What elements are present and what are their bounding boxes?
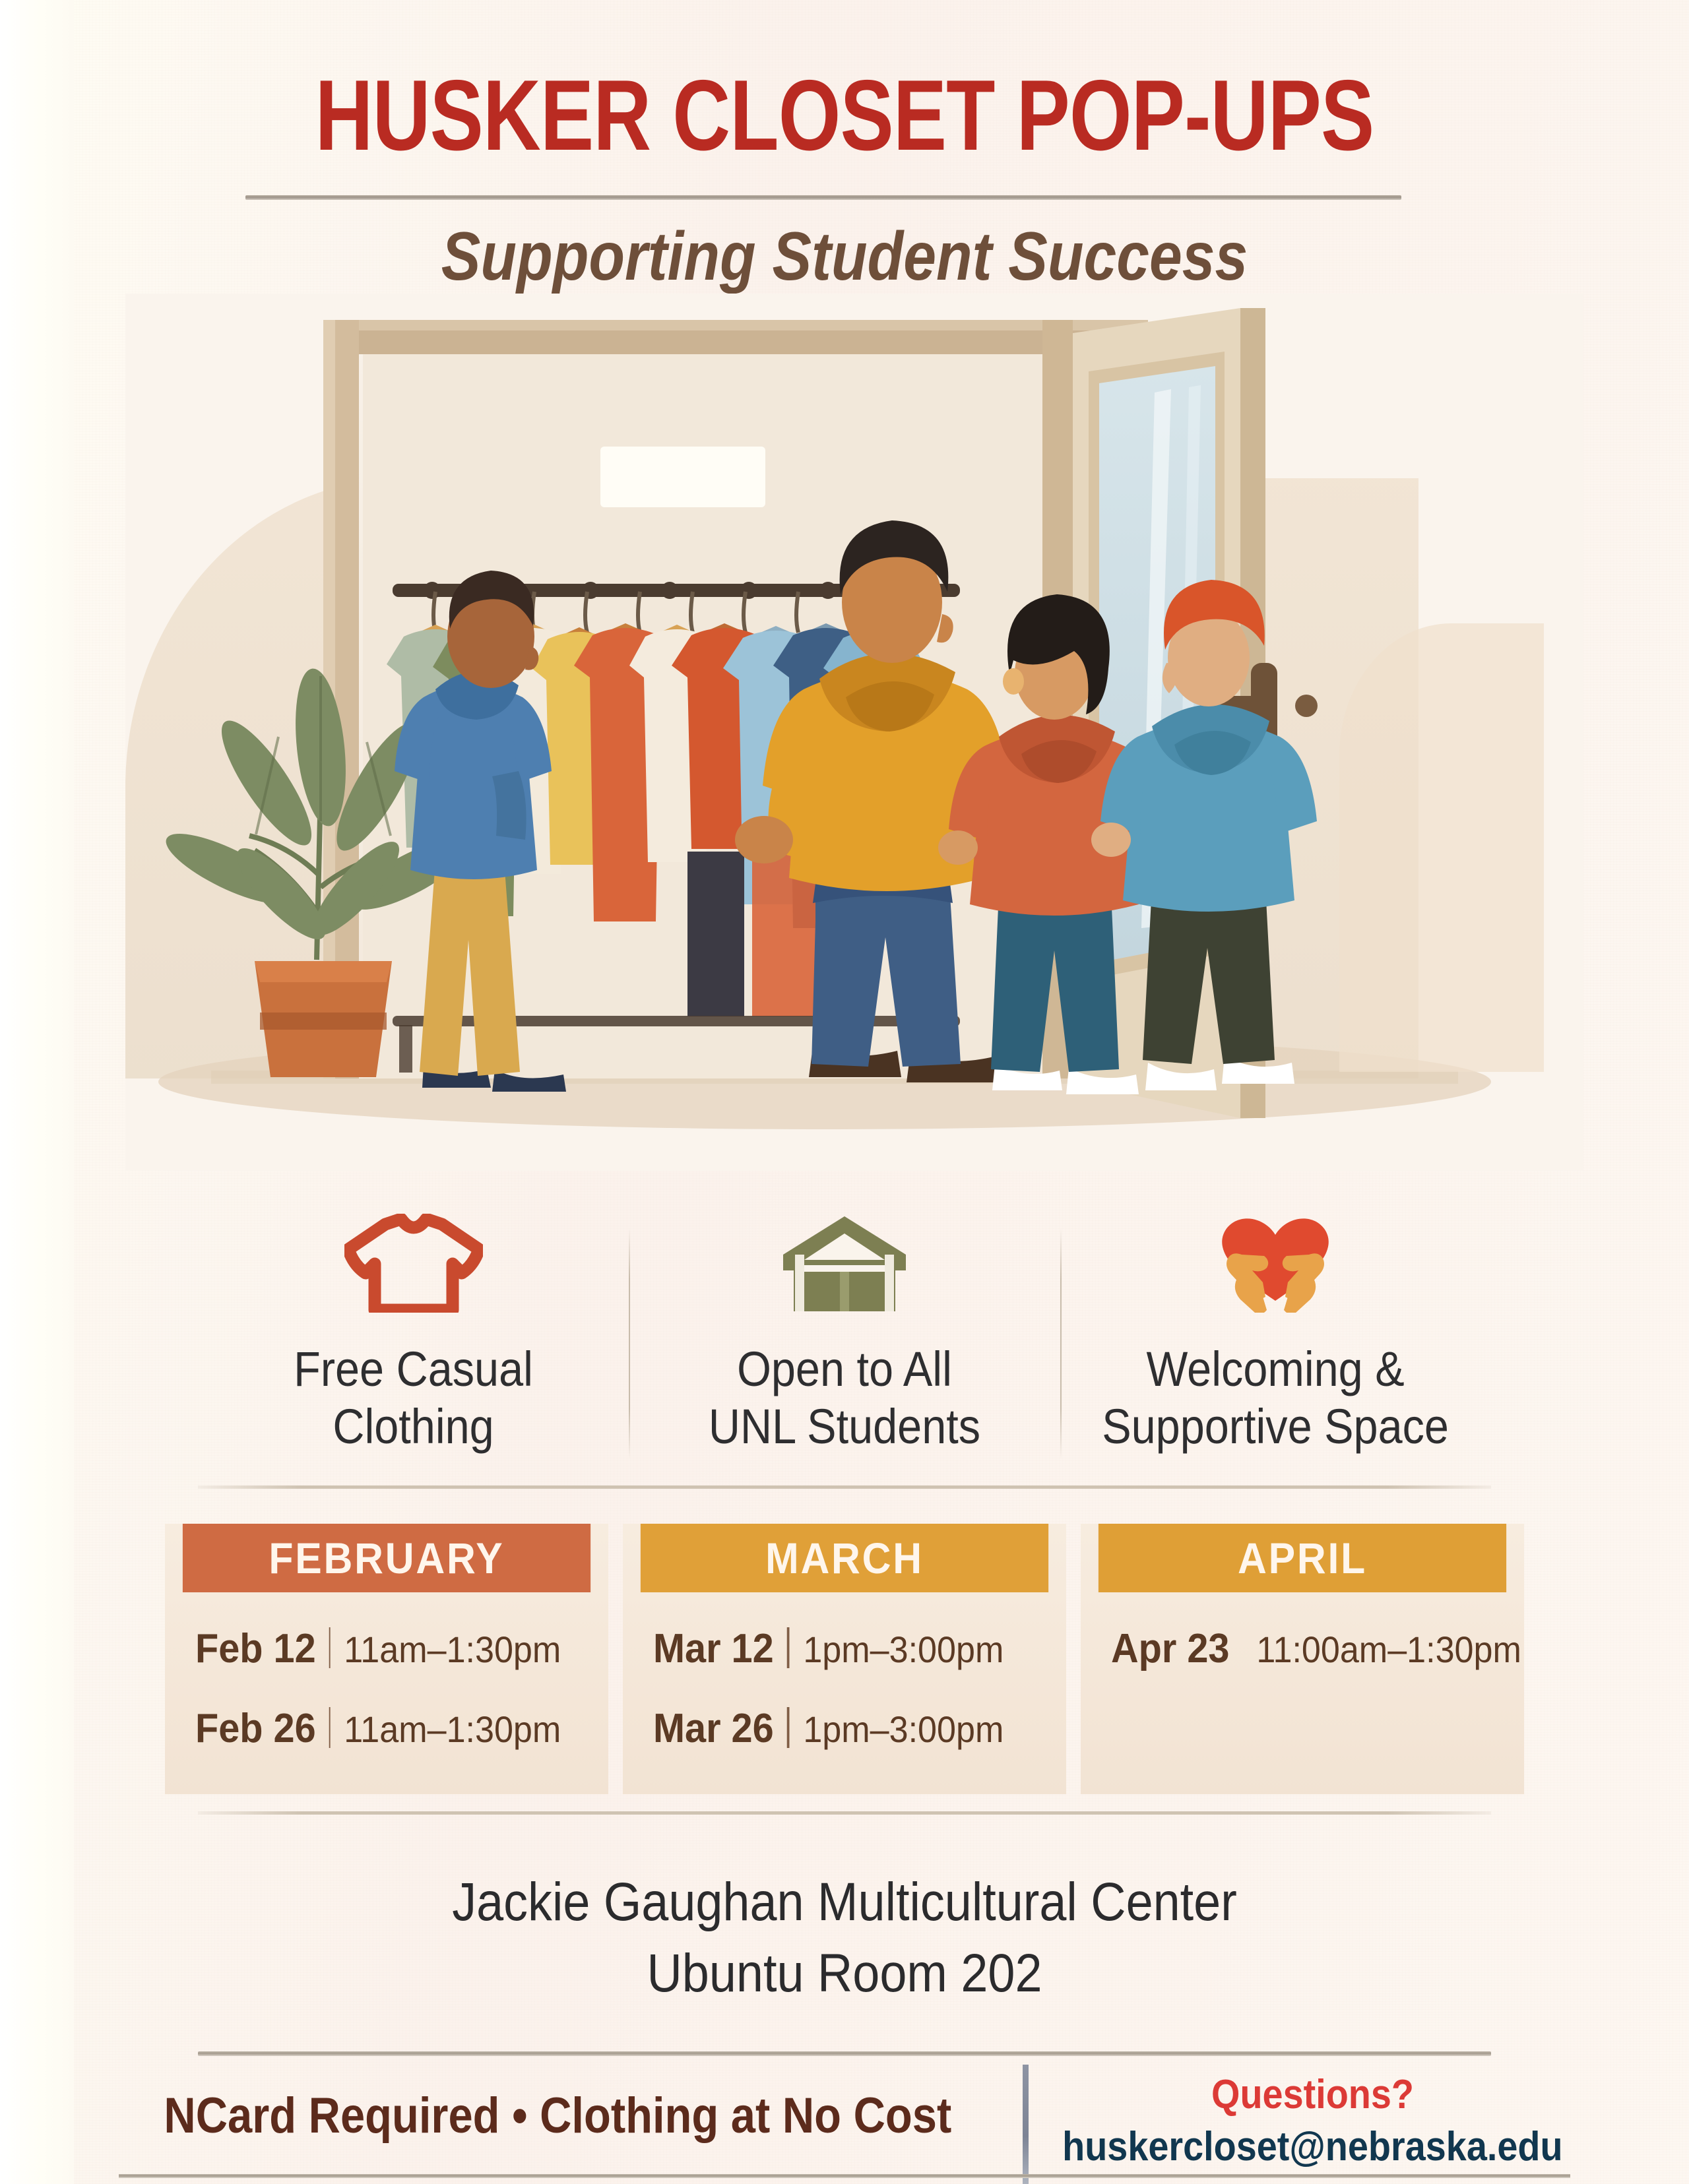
page-subtitle: Supporting Student Success [118,218,1571,296]
questions-label: Questions? [1211,2071,1414,2118]
poster-root: HUSKER CLOSET POP-UPS Supporting Student… [0,0,1689,2184]
feature-free-casual-clothing: Free Casual Clothing [198,1214,629,1478]
feature-label: Free Casual Clothing [294,1340,533,1456]
building-icon [782,1214,907,1313]
date-row: Apr 23 11:00am–1:30pm [1111,1621,1477,1672]
footer-right: Questions? huskercloset@nebraska.edu [1029,2065,1597,2184]
date-day: Apr 23 [1111,1625,1229,1672]
divider-rule-above-months [198,1485,1491,1489]
bottom-edge-rule [119,2174,1570,2178]
month-dates-april: Apr 23 11:00am–1:30pm [1081,1592,1524,1701]
month-header-april: APRIL [1099,1524,1506,1592]
month-dates-march: Mar 12 1pm–3:00pm Mar 26 1pm–3:00pm [623,1592,1066,1781]
feature-row: Free Casual Clothing Open to All UNL Stu… [198,1214,1491,1478]
footer-block: NCard Required • Clothing at No Cost Que… [92,2065,1597,2184]
date-time: 1pm–3:00pm [803,1628,1004,1671]
title-divider-rule [245,195,1401,200]
date-day: Mar 26 [653,1705,774,1752]
hero-illustration [125,294,1583,1171]
schedule-cards: FEBRUARY Feb 12 11am–1:30pm Feb 26 11am–… [165,1524,1524,1794]
month-card-march: MARCH Mar 12 1pm–3:00pm Mar 26 1pm–3:00p… [623,1524,1066,1794]
feature-label: Welcoming & Supportive Space [1102,1340,1449,1456]
month-header-february: FEBRUARY [183,1524,590,1592]
divider-rule-below-months [198,1811,1491,1815]
location-line-2: Ubuntu Room 202 [84,1938,1605,2009]
location-line-1: Jackie Gaughan Multicultural Center [84,1867,1605,1938]
contact-email[interactable]: huskercloset@nebraska.edu [1062,2123,1562,2170]
date-time: 11:00am–1:30pm [1256,1628,1521,1671]
feature-open-to-all: Open to All UNL Students [629,1214,1060,1478]
location-block: Jackie Gaughan Multicultural Center Ubun… [0,1867,1689,2009]
left-edge-strip [0,0,74,2184]
month-dates-february: Feb 12 11am–1:30pm Feb 26 11am–1:30pm [165,1592,608,1781]
date-separator [787,1707,790,1748]
tshirt-icon [344,1214,483,1313]
date-row: Mar 12 1pm–3:00pm [653,1621,1019,1672]
page-title: HUSKER CLOSET POP-UPS [169,58,1520,173]
month-card-april: APRIL Apr 23 11:00am–1:30pm [1081,1524,1524,1794]
date-row: Feb 26 11am–1:30pm [195,1701,561,1752]
footer-note: NCard Required • Clothing at No Cost [164,2087,951,2144]
feature-welcoming-space: Welcoming & Supportive Space [1060,1214,1491,1478]
footer-left: NCard Required • Clothing at No Cost [92,2065,1023,2184]
footer-divider-rule [198,2051,1491,2056]
month-card-february: FEBRUARY Feb 12 11am–1:30pm Feb 26 11am–… [165,1524,608,1794]
feature-label: Open to All UNL Students [709,1340,980,1456]
date-time: 11am–1:30pm [344,1628,561,1671]
month-header-march: MARCH [641,1524,1048,1592]
footer-vertical-divider [1023,2065,1029,2184]
date-day: Feb 12 [195,1625,316,1672]
heart-in-hands-icon [1199,1214,1351,1313]
date-separator [329,1707,331,1748]
date-row: Feb 12 11am–1:30pm [195,1621,561,1672]
date-time: 11am–1:30pm [344,1708,561,1751]
date-time: 1pm–3:00pm [803,1708,1004,1751]
date-day: Mar 12 [653,1625,774,1672]
date-row: Mar 26 1pm–3:00pm [653,1701,1019,1752]
date-separator [787,1627,790,1668]
date-separator [329,1627,331,1668]
date-day: Feb 26 [195,1705,316,1752]
